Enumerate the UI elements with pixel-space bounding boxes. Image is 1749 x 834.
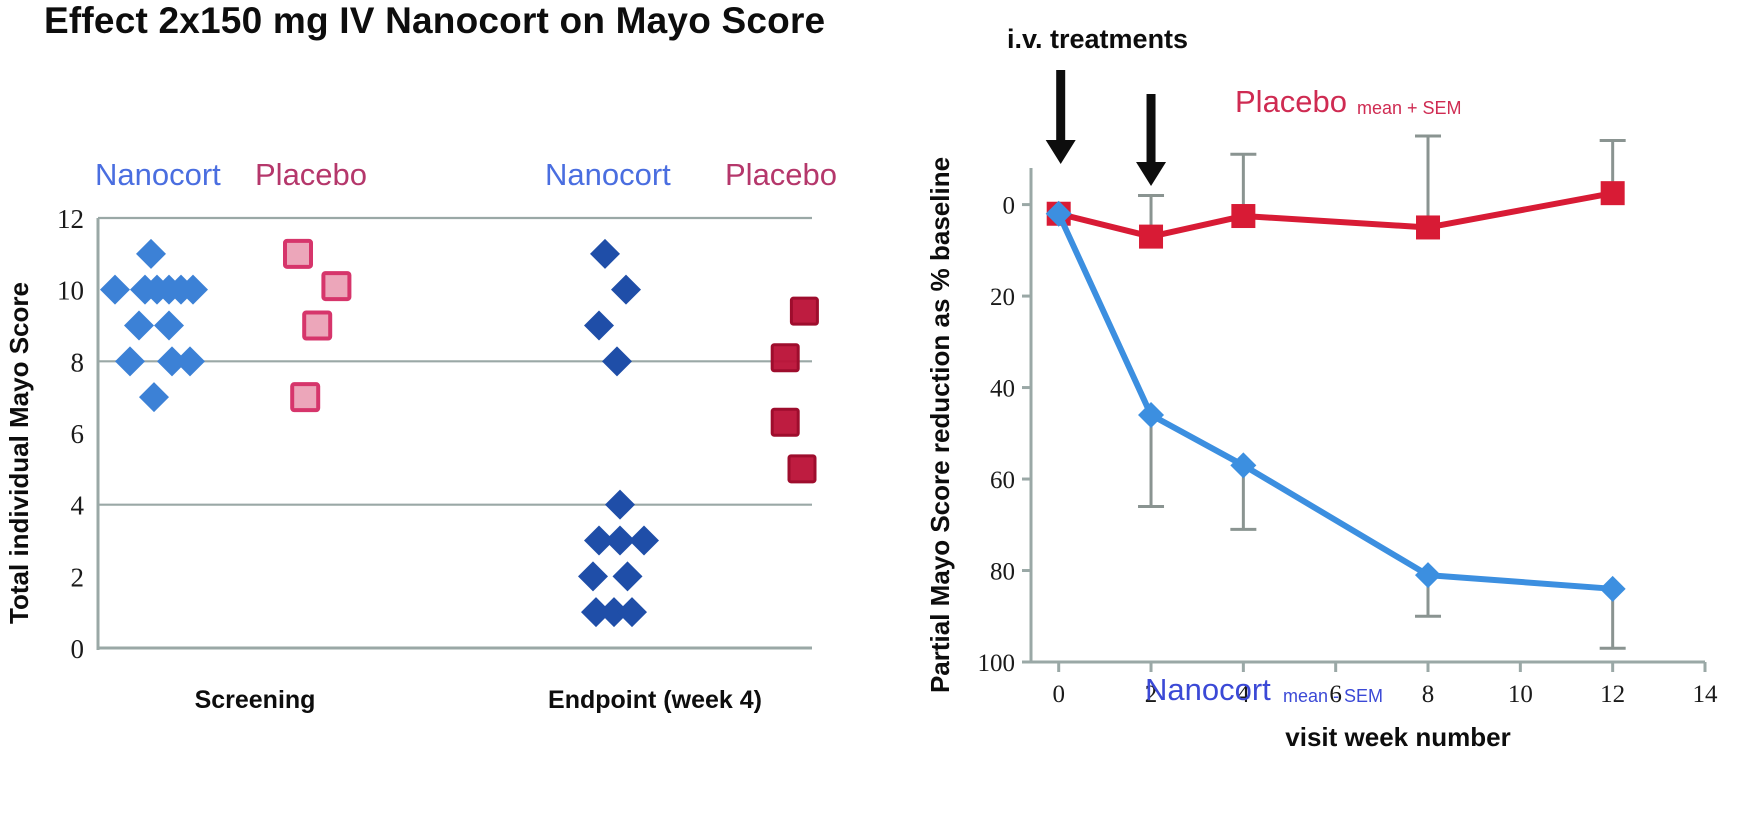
legend-nanocort-suffix: mean - SEM [1283, 686, 1383, 706]
data-point-diamond [617, 597, 647, 627]
x-category-label: Endpoint (week 4) [548, 686, 762, 714]
error-bars [1138, 136, 1626, 648]
data-point-diamond [115, 346, 145, 376]
right-x-tick-label: 8 [1422, 681, 1435, 708]
series-marker-diamond [1415, 562, 1441, 588]
series-marker-square [1231, 204, 1255, 228]
y-tick-label: 2 [71, 562, 85, 592]
y-tick-label: 6 [71, 419, 85, 449]
data-point-square [285, 241, 311, 267]
left-y-axis-title: Total individual Mayo Score [4, 282, 34, 624]
right-y-tick-label: 60 [990, 467, 1015, 494]
data-point-diamond [605, 490, 635, 520]
series-placebo-endpoint [772, 298, 817, 482]
data-point-square [772, 345, 798, 371]
data-point-square [304, 313, 330, 339]
series-nanocort-screening [100, 239, 208, 412]
iv-arrow-1 [1046, 70, 1076, 164]
data-point-diamond [629, 526, 659, 556]
data-point-square [323, 273, 349, 299]
right-y-tick-label: 80 [990, 559, 1015, 586]
left-data-points [100, 239, 817, 627]
right-x-tick-label: 12 [1600, 681, 1625, 708]
iv-treatments-label: i.v. treatments [1007, 24, 1188, 54]
right-axes: 02040608010002468101214 [978, 168, 1719, 708]
series-nanocort-endpoint [578, 239, 659, 627]
right-y-axis-title-text: Partial Mayo Score reduction as % baseli… [925, 157, 955, 693]
iv-arrow-2 [1136, 94, 1166, 186]
y-tick-label: 10 [57, 276, 84, 306]
y-tick-label: 4 [71, 491, 85, 521]
figure-root: Effect 2x150 mg IV Nanocort on Mayo Scor… [0, 0, 1749, 834]
left-x-categories: ScreeningEndpoint (week 4) [195, 686, 762, 714]
series-marker-square [1139, 225, 1163, 249]
legend-placebo-suffix: mean + SEM [1357, 98, 1462, 118]
data-point-diamond [578, 561, 608, 591]
series-marker-diamond [1138, 402, 1164, 428]
y-tick-label: 8 [71, 347, 85, 377]
right-line-panel: 02040608010002468101214Partial Mayo Scor… [905, 0, 1749, 834]
group-label-placebo-3: Placebo [725, 157, 837, 192]
data-point-diamond [100, 275, 130, 305]
right-y-tick-label: 20 [990, 284, 1015, 311]
x-category-label: Screening [195, 686, 316, 714]
arrow-head [1136, 162, 1166, 186]
right-line-svg: 02040608010002468101214Partial Mayo Scor… [905, 0, 1749, 834]
data-point-square [789, 456, 815, 482]
right-series [1046, 181, 1626, 602]
right-y-tick-label: 40 [990, 376, 1015, 403]
series-placebo [1047, 181, 1625, 248]
legend-nanocort-name: Nanocort [1145, 672, 1271, 707]
series-marker-square [1416, 215, 1440, 239]
right-y-tick-label: 0 [1003, 193, 1016, 220]
data-point-diamond [590, 239, 620, 269]
left-y-axis: 024681012 [57, 204, 812, 664]
right-legend: Placebomean + SEMNanocortmean - SEM [1145, 84, 1462, 707]
group-label-nanocort-2: Nanocort [545, 157, 671, 192]
series-marker-diamond [1230, 452, 1256, 478]
legend-placebo-name: Placebo [1235, 84, 1347, 119]
left-group-labels: NanocortPlaceboNanocortPlacebo [95, 157, 837, 192]
iv-treatment-annotation: i.v. treatments [1007, 24, 1188, 186]
series-placebo-screening [285, 241, 349, 410]
y-tick-label: 12 [57, 204, 84, 234]
data-point-diamond [136, 239, 166, 269]
group-label-placebo-1: Placebo [255, 157, 367, 192]
arrow-head [1046, 140, 1076, 164]
data-point-diamond [175, 346, 205, 376]
right-x-tick-label: 10 [1508, 681, 1533, 708]
y-tick-label: 0 [71, 634, 85, 664]
left-scatter-panel: 024681012Total individual Mayo ScoreNano… [0, 60, 920, 834]
right-x-tick-label: 14 [1693, 681, 1719, 708]
right-y-axis-title: Partial Mayo Score reduction as % baseli… [925, 157, 955, 693]
data-point-diamond [613, 561, 643, 591]
data-point-diamond [124, 311, 154, 341]
group-label-nanocort-0: Nanocort [95, 157, 221, 192]
series-marker-diamond [1600, 576, 1626, 602]
right-x-tick-label: 0 [1052, 681, 1065, 708]
figure-title: Effect 2x150 mg IV Nanocort on Mayo Scor… [44, 0, 825, 42]
series-line [1059, 214, 1613, 589]
data-point-diamond [611, 275, 641, 305]
data-point-diamond [584, 311, 614, 341]
data-point-square [292, 384, 318, 410]
right-x-axis-title: visit week number [1285, 722, 1510, 752]
data-point-square [791, 298, 817, 324]
series-nanocort [1046, 201, 1626, 602]
data-point-diamond [154, 311, 184, 341]
left-gridlines [98, 218, 812, 505]
series-marker-square [1601, 181, 1625, 205]
y-axis-title-text: Total individual Mayo Score [4, 282, 34, 624]
data-point-diamond [602, 346, 632, 376]
data-point-square [772, 409, 798, 435]
right-y-tick-label: 100 [978, 650, 1016, 677]
left-scatter-svg: 024681012Total individual Mayo ScoreNano… [0, 60, 920, 834]
data-point-diamond [139, 382, 169, 412]
